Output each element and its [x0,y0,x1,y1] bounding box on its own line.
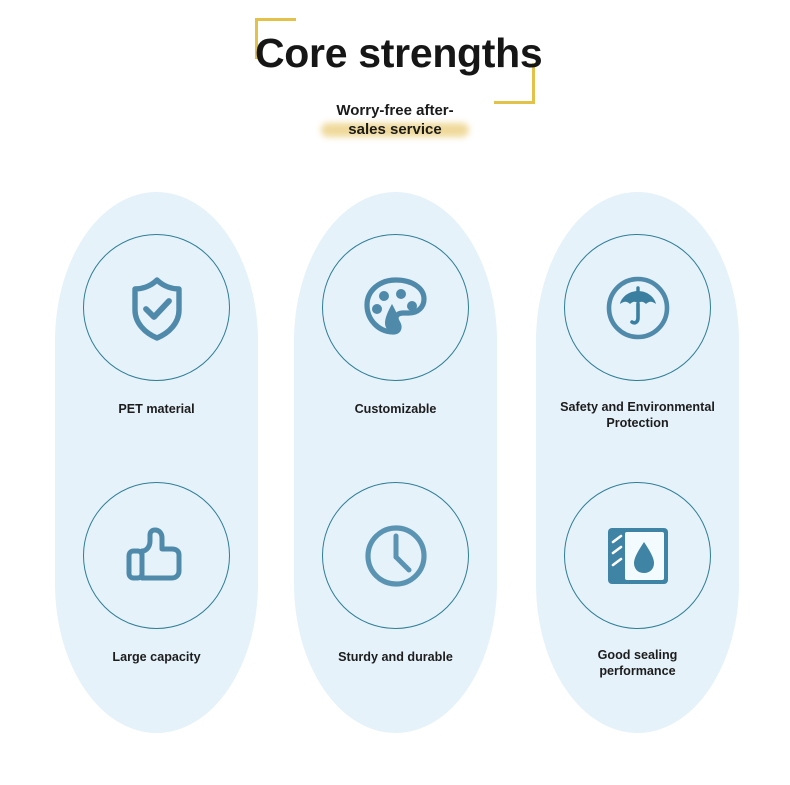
water-droplet-seal-icon [596,514,680,598]
feature-label: Large capacity [55,649,258,665]
feature-customizable[interactable]: Customizable [294,234,497,417]
feature-label: Safety and Environmental Protection [536,399,739,432]
feature-card-3: Safety and Environmental Protection [536,192,739,733]
paint-palette-icon [354,266,438,350]
feature-card-2: Customizable Sturdy and durable [294,192,497,733]
feature-label: Sturdy and durable [294,649,497,665]
thumbs-up-icon [115,514,199,598]
subtitle-line-2: sales service [348,121,441,138]
feature-label: Good sealing performance [536,647,739,680]
clock-icon [354,514,438,598]
feature-good-sealing-performance[interactable]: Good sealing performance [536,482,739,680]
icon-circle [564,234,711,381]
feature-safety-and-environmental-protection[interactable]: Safety and Environmental Protection [536,234,739,432]
feature-large-capacity[interactable]: Large capacity [55,482,258,665]
icon-circle [322,482,469,629]
shield-check-icon [115,266,199,350]
icon-circle [322,234,469,381]
icon-circle [564,482,711,629]
umbrella-in-circle-icon [596,266,680,350]
subtitle: Worry-free after- sales service [275,101,515,139]
feature-label-line-2: performance [599,664,675,678]
feature-card-1: PET material Large capacity [55,192,258,733]
subtitle-block: Worry-free after- sales service [275,101,515,139]
icon-circle [83,482,230,629]
feature-label: PET material [55,401,258,417]
feature-sturdy-and-durable[interactable]: Sturdy and durable [294,482,497,665]
feature-label-line-1: Safety and Environmental [560,400,715,414]
feature-label-line-1: Good sealing [598,648,678,662]
feature-label-line-2: Protection [606,416,668,430]
feature-label: Customizable [294,401,497,417]
icon-circle [83,234,230,381]
feature-pet-material[interactable]: PET material [55,234,258,417]
subtitle-line-1: Worry-free after- [336,102,453,119]
